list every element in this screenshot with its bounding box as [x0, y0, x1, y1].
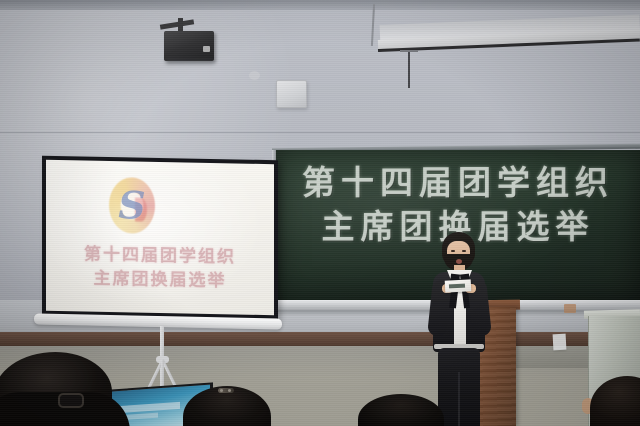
slide-title-line-2: 主席团换届选举 [52, 266, 268, 294]
wall-speaker-box [276, 80, 307, 108]
hair-clip-dot [228, 389, 231, 392]
projector-shadow [166, 60, 214, 64]
projector-lens-icon [203, 46, 210, 52]
logo-letter: S [109, 181, 155, 230]
projection-screen-surface: S 第十四届团学组织 主席团换届选举 [46, 160, 274, 315]
speaker-mouth [456, 259, 462, 264]
audience-glasses-icon [58, 393, 84, 408]
wall-knob [249, 71, 260, 80]
speaker-eye-right [462, 250, 466, 252]
hair-clip-dot [220, 389, 223, 392]
speech-card-text [449, 284, 465, 289]
wall-notice-paper [553, 334, 567, 351]
wall-seam [0, 132, 640, 133]
classroom-photo: 第十四届团学组织 主席团换届选举 S 第十四届团学组织 主席团换届选举 [0, 0, 640, 426]
slide-logo: S [109, 177, 155, 234]
student-speaker [418, 232, 498, 426]
wall-socket [564, 304, 576, 313]
speaker-eye-left [451, 250, 455, 252]
rail-hanging-rod [408, 52, 410, 88]
slide-title: 第十四届团学组织 主席团换届选举 [52, 242, 268, 294]
blackboard-line-1: 第十四届团学组织 [276, 162, 640, 204]
slide-title-line-1: 第十四届团学组织 [52, 242, 268, 270]
speaker-leg-split [458, 372, 460, 426]
projection-screen: S 第十四届团学组织 主席团换届选举 [42, 156, 278, 321]
